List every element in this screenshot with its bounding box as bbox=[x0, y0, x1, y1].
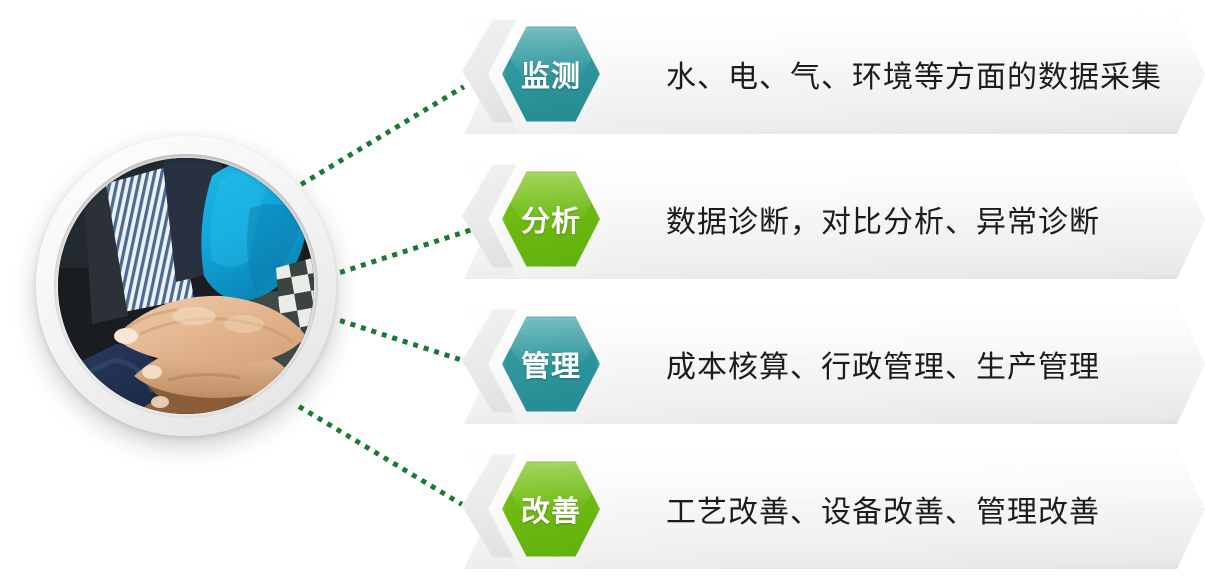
process-step-row[interactable]: 水、电、气、环境等方面的数据采集 监测 bbox=[462, 10, 1205, 138]
step-description: 数据诊断，对比分析、异常诊断 bbox=[666, 155, 1100, 283]
step-description: 成本核算、行政管理、生产管理 bbox=[666, 300, 1100, 428]
process-steps-list: 水、电、气、环境等方面的数据采集 监测 数据诊断，对比分析、异常诊断 分析 成本… bbox=[0, 0, 1205, 580]
step-badge[interactable]: 分析 bbox=[462, 155, 630, 283]
step-badge[interactable]: 改善 bbox=[462, 445, 630, 573]
step-badge-label: 管理 bbox=[502, 315, 600, 413]
process-step-row[interactable]: 工艺改善、设备改善、管理改善 改善 bbox=[462, 445, 1205, 573]
step-badge-label: 监测 bbox=[502, 25, 600, 123]
step-description: 水、电、气、环境等方面的数据采集 bbox=[666, 10, 1162, 138]
process-step-row[interactable]: 数据诊断，对比分析、异常诊断 分析 bbox=[462, 155, 1205, 283]
step-badge-label: 改善 bbox=[502, 460, 600, 558]
process-step-row[interactable]: 成本核算、行政管理、生产管理 管理 bbox=[462, 300, 1205, 428]
step-description: 工艺改善、设备改善、管理改善 bbox=[666, 445, 1100, 573]
step-badge[interactable]: 管理 bbox=[462, 300, 630, 428]
step-badge[interactable]: 监测 bbox=[462, 10, 630, 138]
step-badge-label: 分析 bbox=[502, 170, 600, 268]
